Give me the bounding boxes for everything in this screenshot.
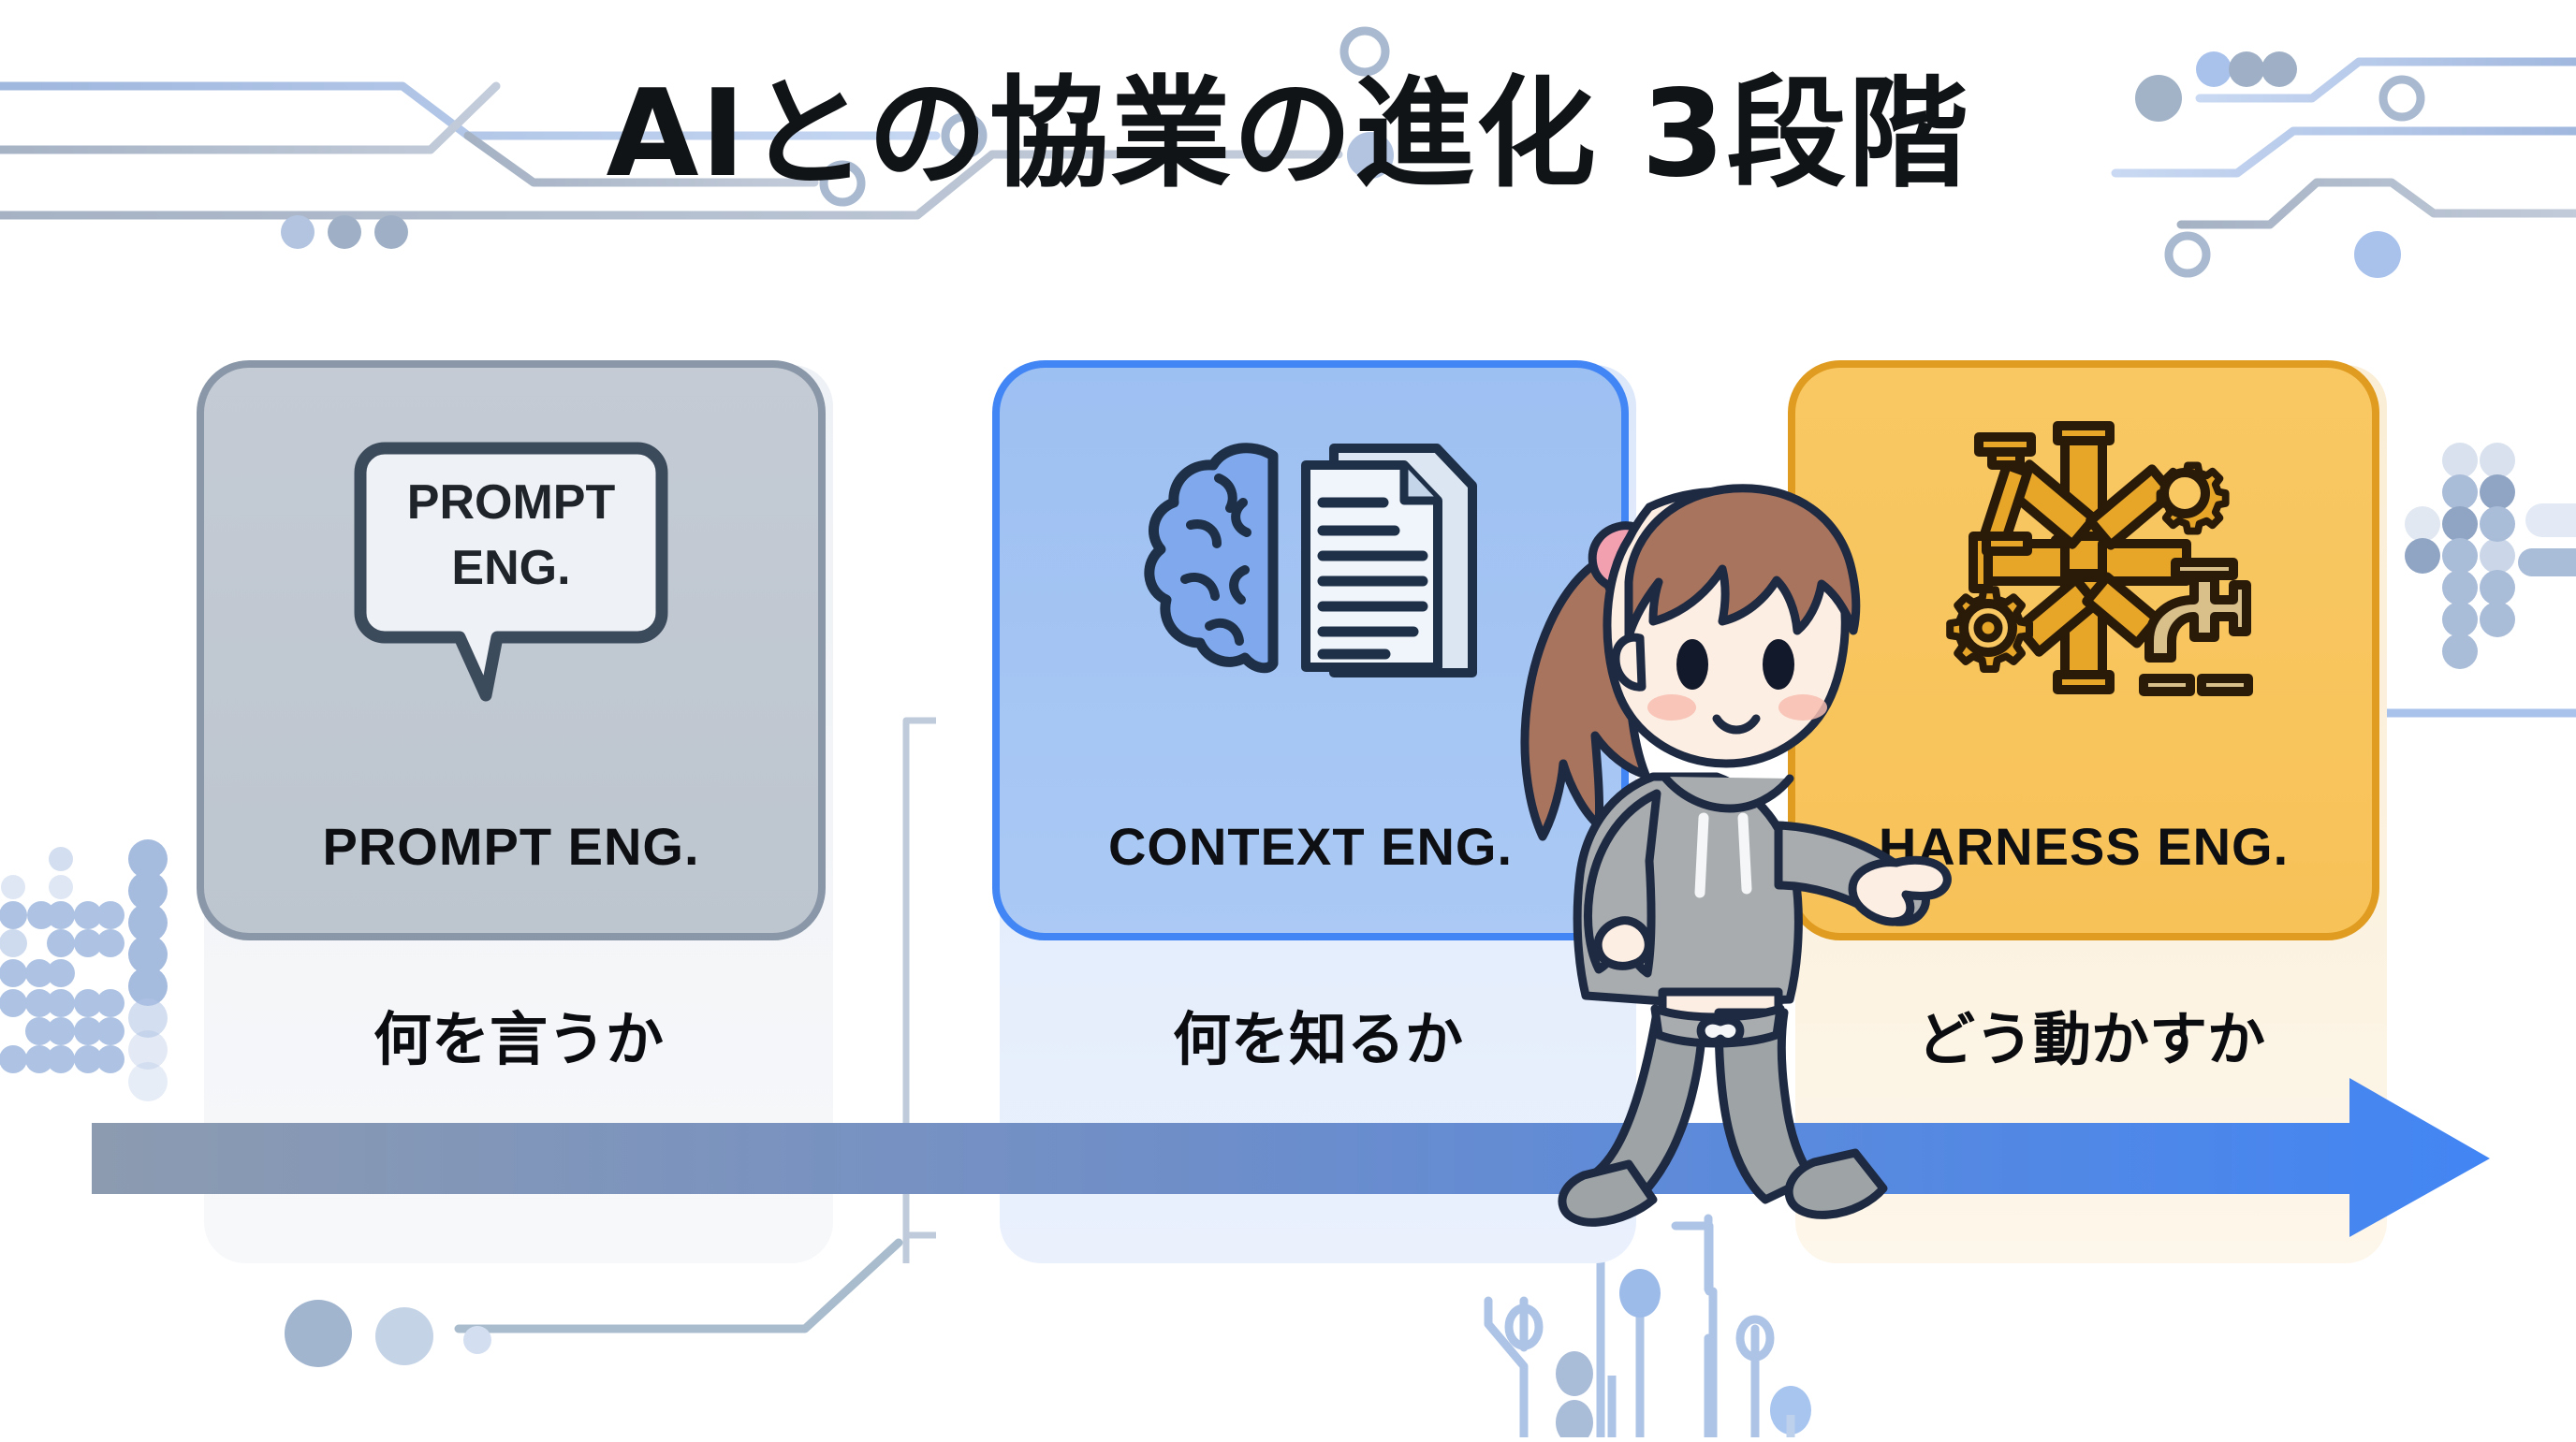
page-title: AIとの協業の進化 3段階 [0, 66, 2576, 203]
page-title-wrap: AIとの協業の進化 3段階 [0, 66, 2576, 203]
gear-icon [2159, 465, 2225, 531]
bubble-text-line1: PROMPT [407, 475, 616, 530]
stage-label-harness-eng: HARNESS ENG. [1795, 816, 2372, 877]
stage-caption-context-eng: 何を知るか [1000, 992, 1636, 1076]
bubble-text-line2: ENG. [451, 541, 570, 595]
gear-icon [1950, 590, 2029, 669]
stage-label-context-eng: CONTEXT ENG. [1000, 816, 1621, 877]
gears-pipes-icon [1915, 420, 2252, 701]
stage-card-context-eng[interactable]: CONTEXT ENG. [992, 360, 1629, 940]
stage-label-prompt-eng: PROMPT ENG. [204, 816, 818, 877]
speech-bubble-icon: PROMPT ENG. [357, 420, 666, 701]
brain-document-icon [1123, 420, 1498, 701]
stage-caption-harness-eng: どう動かすか [1795, 992, 2387, 1076]
stage-caption-prompt-eng: 何を言うか [204, 992, 833, 1076]
stage-card-harness-eng[interactable]: HARNESS ENG. [1788, 360, 2379, 940]
stage-card-prompt-eng[interactable]: PROMPT ENG. PROMPT ENG. [197, 360, 826, 940]
stage-columns: 何を言うか PROMPT ENG. PROMPT ENG. 何を知るか [0, 0, 2576, 1437]
